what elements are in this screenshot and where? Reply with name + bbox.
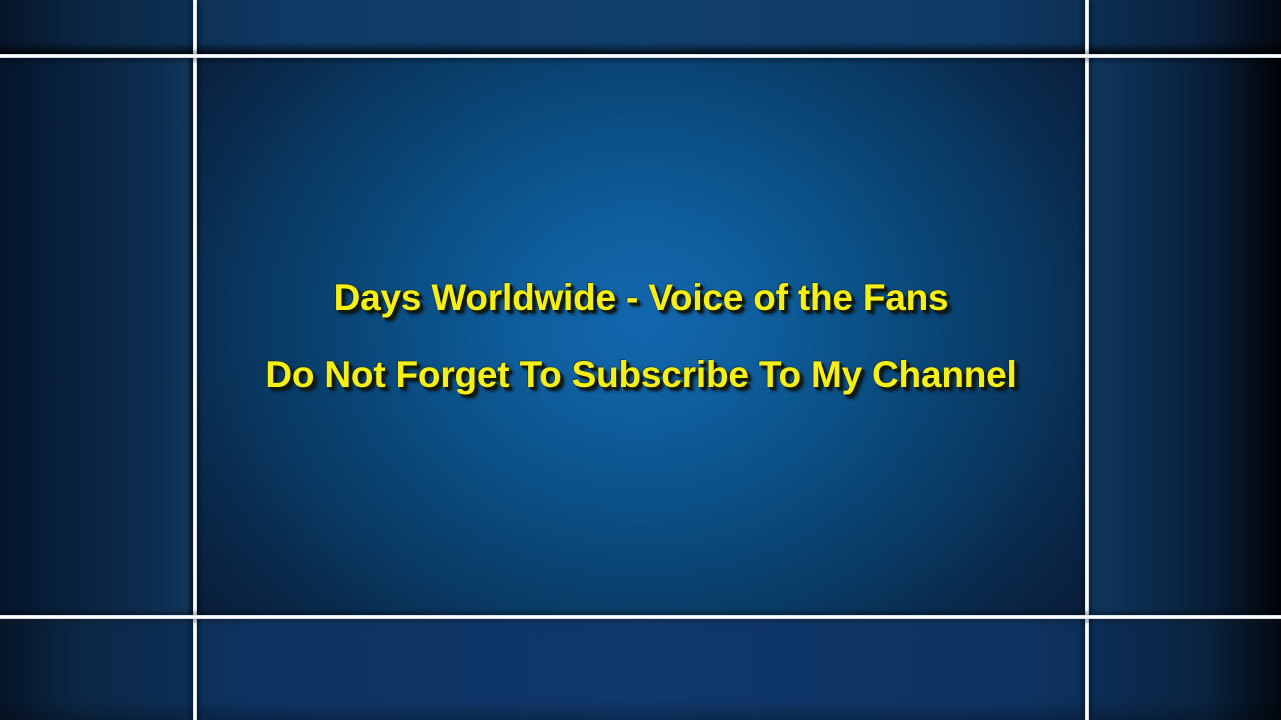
frame-band-left bbox=[0, 54, 193, 619]
grid-line-horizontal-bottom bbox=[0, 615, 1281, 619]
grid-line-vertical-right bbox=[1085, 0, 1089, 720]
title-text-area: Days Worldwide - Voice of the Fans Do No… bbox=[197, 58, 1085, 615]
subscribe-callout-text: Do Not Forget To Subscribe To My Channel bbox=[265, 356, 1016, 394]
title-card-stage: Days Worldwide - Voice of the Fans Do No… bbox=[0, 0, 1281, 720]
headline-text: Days Worldwide - Voice of the Fans bbox=[334, 279, 949, 317]
frame-band-right bbox=[1089, 54, 1281, 619]
